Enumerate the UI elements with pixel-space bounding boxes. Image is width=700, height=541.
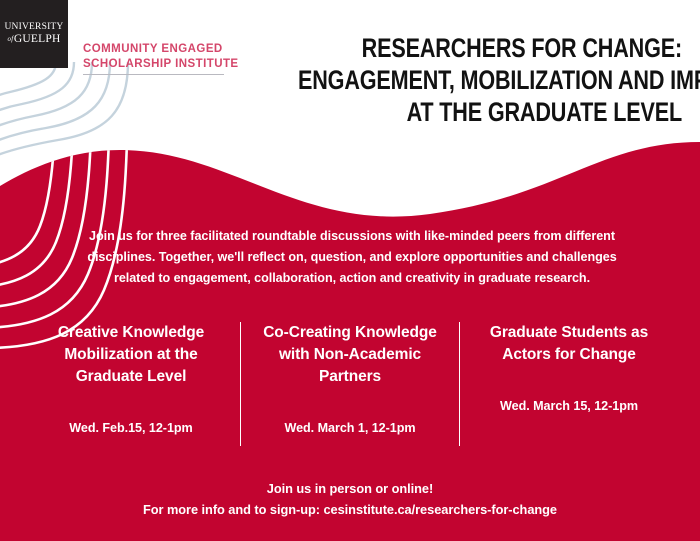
session-date-2: Wed. March 1, 12-1pm (253, 420, 447, 436)
session-title-2: Co-Creating Knowledge with Non-Academic … (253, 322, 447, 388)
footer-signup-label: For more info and to sign-up: (143, 502, 323, 517)
session-column-1: Creative Knowledge Mobilization at the G… (22, 322, 240, 446)
session-date-1: Wed. Feb.15, 12-1pm (34, 420, 228, 436)
poster-canvas: UNIVERSITY ofGUELPH COMMUNITY ENGAGED SC… (0, 0, 700, 541)
guelph-logo-wordmark: GUELPH (14, 33, 61, 45)
university-of-guelph-logo: UNIVERSITY ofGUELPH (0, 0, 68, 68)
guelph-logo-line-1: UNIVERSITY (5, 23, 64, 33)
session-column-2: Co-Creating Knowledge with Non-Academic … (240, 322, 459, 446)
footer-signup-url[interactable]: cesinstitute.ca/researchers-for-change (323, 502, 557, 517)
title-line-2: ENGAGEMENT, MOBILIZATION AND IMPACT (298, 64, 682, 96)
page-title: RESEARCHERS FOR CHANGE: ENGAGEMENT, MOBI… (202, 32, 682, 128)
decorative-curves-light (0, 62, 128, 160)
session-title-1: Creative Knowledge Mobilization at the G… (34, 322, 228, 388)
guelph-logo-line-2: ofGUELPH (8, 33, 61, 45)
footer-line-1: Join us in person or online! (0, 478, 700, 499)
session-columns: Creative Knowledge Mobilization at the G… (22, 322, 678, 446)
session-column-3: Graduate Students as Actors for Change W… (459, 322, 678, 446)
footer: Join us in person or online! For more in… (0, 478, 700, 521)
title-line-1: RESEARCHERS FOR CHANGE: (298, 32, 682, 64)
title-line-3: AT THE GRADUATE LEVEL (298, 96, 682, 128)
intro-paragraph: Join us for three facilitated roundtable… (76, 226, 628, 289)
footer-line-2: For more info and to sign-up: cesinstitu… (0, 499, 700, 520)
guelph-logo-of: of (8, 36, 14, 43)
session-title-3: Graduate Students as Actors for Change (472, 322, 666, 366)
intro-text: Join us for three facilitated roundtable… (76, 226, 628, 289)
session-date-3: Wed. March 15, 12-1pm (472, 398, 666, 414)
